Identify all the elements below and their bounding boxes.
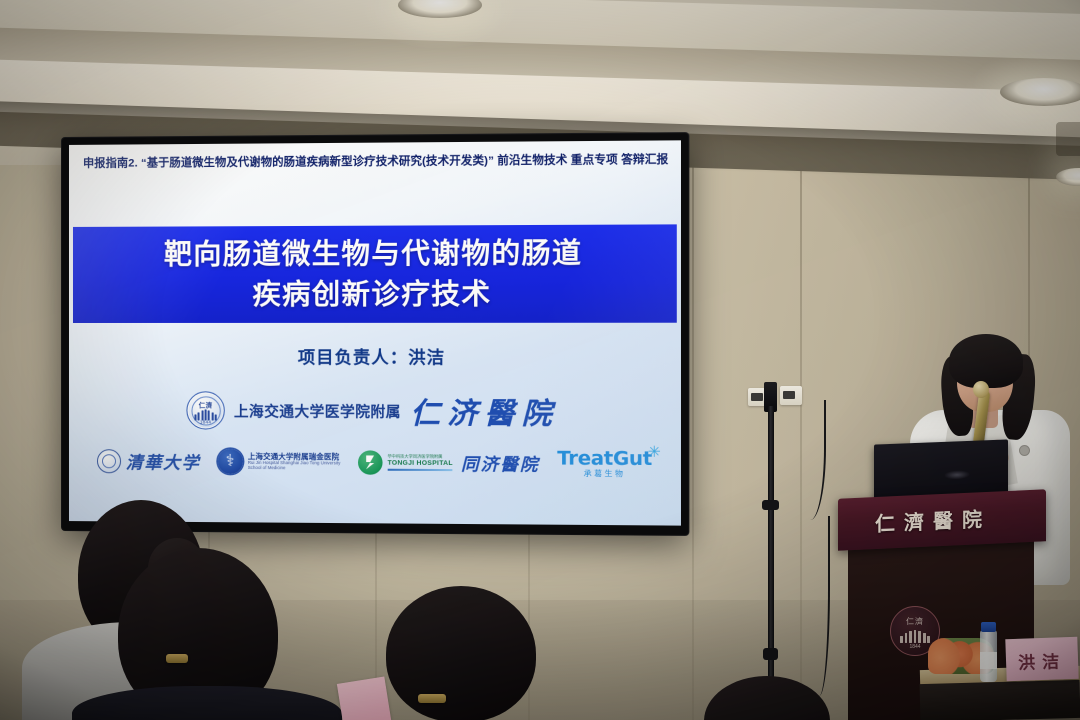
slide-presenter-line: 项目负责人：洪洁 — [69, 343, 681, 369]
lectern-emblem-bars-icon — [900, 629, 930, 643]
presentation-screen[interactable]: 申报指南2. “基于肠道微生物及代谢物的肠道疾病新型诊疗技术研究(技术开发类)”… — [62, 133, 688, 535]
stand-clamp[interactable] — [763, 648, 778, 660]
tongji-name-en: TONGJI HOSPITAL — [387, 459, 452, 467]
tongji-seal-icon — [358, 450, 383, 474]
tongji-rule-divider — [387, 468, 452, 470]
microphone-stand[interactable] — [768, 406, 774, 706]
renji-affiliation-text: 上海交通大学医学院附属 — [234, 400, 401, 422]
hair-clip — [166, 654, 188, 663]
treatgut-wordmark: TreatGut — [557, 449, 652, 469]
conference-room-scene: 申报指南2. “基于肠道微生物及代谢物的肠道疾病新型诊疗技术研究(技术开发类)”… — [0, 0, 1080, 720]
hair-clip — [418, 694, 446, 703]
renji-hospital-logo: 仁濟 1844 上海交通大学医学院附属 仁济醫院 — [69, 389, 681, 433]
partner-logo-ruijin: 上海交通大学附属瑞金医院 Rui Jin Hospital Shanghai J… — [217, 449, 340, 475]
tsinghua-name-text: 清華大学 — [126, 449, 200, 474]
slide-content: 申报指南2. “基于肠道微生物及代谢物的肠道疾病新型诊疗技术研究(技术开发类)”… — [69, 140, 681, 525]
audience-head — [386, 586, 536, 720]
lectern-label: 仁濟醫院 — [838, 501, 1028, 539]
tongji-text-block: 华中科技大学同济医学院附属 TONGJI HOSPITAL — [387, 454, 452, 470]
name-card: 洪洁 — [1005, 637, 1078, 681]
bottle-cap — [981, 622, 996, 632]
ruijin-text-block: 上海交通大学附属瑞金医院 Rui Jin Hospital Shanghai J… — [248, 453, 341, 472]
hair — [949, 334, 1023, 388]
ceiling-downlight — [1000, 78, 1080, 106]
laptop-screen-glint — [944, 469, 970, 479]
wall-outlet[interactable] — [780, 386, 802, 405]
partner-logo-tongji: 华中科技大学同济医学院附属 TONGJI HOSPITAL 同济醫院 — [358, 450, 540, 476]
renji-brand-text: 仁济醫院 — [410, 390, 559, 433]
partner-logo-treatgut: TreatGut ✳ 承葛生物 — [557, 449, 652, 478]
stand-clamp[interactable] — [762, 500, 779, 510]
front-table-skirt — [920, 680, 1080, 720]
treatgut-burst-icon: ✳ — [648, 445, 664, 460]
bottle-label — [980, 652, 997, 669]
slide-title-band: 靶向肠道微生物与代谢物的肠道 疾病创新诊疗技术 — [73, 224, 677, 323]
ruijin-seal-icon — [217, 449, 242, 474]
tsinghua-seal-icon — [97, 449, 121, 473]
partner-logo-row: 清華大学 上海交通大学附属瑞金医院 Rui Jin Hospital Shang… — [69, 447, 681, 478]
partner-logo-tsinghua: 清華大学 — [97, 448, 201, 474]
slide-title-line-2: 疾病创新诊疗技术 — [252, 274, 491, 315]
renji-seal-icon: 仁濟 1844 — [186, 391, 224, 429]
lectern-front-panel: 仁濟醫院 — [838, 489, 1046, 550]
treatgut-name-cn: 承葛生物 — [557, 470, 652, 478]
handout-paper — [337, 677, 391, 720]
name-card-text: 洪洁 — [1006, 647, 1079, 674]
renji-seal-top-text: 仁濟 — [187, 399, 223, 409]
lectern-emblem-top-text: 仁濟 — [891, 616, 939, 627]
tongji-brand-text: 同济醫院 — [461, 450, 540, 476]
microphone-capsule-icon — [973, 381, 989, 398]
ruijin-name-en2: School of Medicine — [248, 466, 341, 471]
slide-header-text: 申报指南2. “基于肠道微生物及代谢物的肠道疾病新型诊疗技术研究(技术开发类)”… — [83, 151, 671, 171]
slide-title-line-1: 靶向肠道微生物与代谢物的肠道 — [164, 233, 582, 275]
renji-seal-year: 1844 — [187, 419, 223, 424]
ceiling-speaker — [1056, 122, 1080, 156]
coat-badge — [1020, 446, 1029, 455]
